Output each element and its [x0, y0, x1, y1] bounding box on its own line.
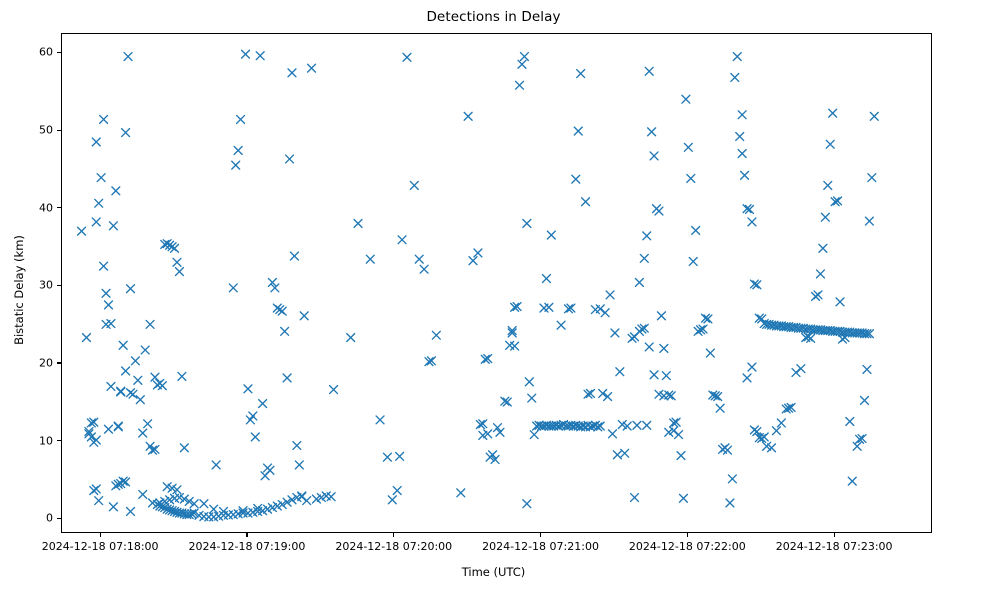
scatter-marker — [124, 53, 132, 61]
scatter-marker — [633, 421, 641, 429]
scatter-marker — [171, 244, 179, 252]
scatter-marker — [114, 423, 122, 431]
scatter-marker — [655, 207, 663, 215]
scatter-marker — [78, 227, 86, 235]
scatter-marker — [281, 327, 289, 335]
scatter-marker — [144, 420, 152, 428]
y-tick-mark — [57, 518, 61, 519]
scatter-marker — [180, 444, 188, 452]
y-tick-mark — [57, 440, 61, 441]
x-tick-label: 2024-12-18 07:21:00 — [482, 540, 599, 553]
plot-axes-frame — [61, 33, 932, 533]
scatter-marker — [127, 508, 135, 516]
scatter-marker — [772, 427, 780, 435]
scatter-marker — [100, 262, 108, 270]
scatter-marker — [210, 505, 218, 513]
scatter-marker — [178, 372, 186, 380]
scatter-marker — [244, 385, 252, 393]
scatter-marker — [122, 367, 130, 375]
scatter-marker — [249, 412, 257, 420]
scatter-marker — [863, 365, 871, 373]
scatter-marker — [107, 383, 115, 391]
scatter-marker — [200, 500, 208, 508]
scatter-marker — [824, 181, 832, 189]
scatter-marker — [601, 309, 609, 317]
scatter-marker — [657, 312, 665, 320]
scatter-marker — [640, 254, 648, 262]
scatter-marker — [616, 368, 624, 376]
scatter-marker — [303, 497, 311, 505]
y-tick-mark — [57, 285, 61, 286]
scatter-marker — [242, 50, 250, 58]
scatter-marker — [232, 161, 240, 169]
scatter-marker — [748, 218, 756, 226]
scatter-marker — [256, 52, 264, 60]
scatter-marker — [650, 152, 658, 160]
scatter-marker — [95, 497, 103, 505]
scatter-marker — [542, 275, 550, 283]
scatter-marker — [846, 417, 854, 425]
scatter-marker — [609, 430, 617, 438]
scatter-marker — [92, 218, 100, 226]
scatter-marker — [645, 67, 653, 75]
scatter-marker — [606, 291, 614, 299]
scatter-marker — [577, 70, 585, 78]
x-tick-label: 2024-12-18 07:19:00 — [189, 540, 306, 553]
scatter-series-detections — [78, 50, 879, 521]
scatter-marker — [220, 508, 228, 516]
scatter-marker — [861, 397, 869, 405]
scatter-marker — [528, 394, 536, 402]
scatter-marker — [134, 376, 142, 384]
scatter-marker — [398, 236, 406, 244]
scatter-marker — [109, 503, 117, 511]
scatter-marker — [736, 133, 744, 141]
scatter-marker — [738, 150, 746, 158]
scatter-marker — [677, 452, 685, 460]
scatter-marker — [848, 477, 856, 485]
x-tick-mark — [687, 533, 688, 537]
scatter-marker — [109, 222, 117, 230]
x-tick-mark — [246, 533, 247, 537]
scatter-marker — [836, 298, 844, 306]
scatter-marker — [643, 232, 651, 240]
scatter-marker — [266, 466, 274, 474]
scatter-marker — [819, 244, 827, 252]
scatter-marker — [139, 429, 147, 437]
scatter-marker — [631, 494, 639, 502]
scatter-marker — [520, 53, 528, 61]
scatter-marker — [613, 451, 621, 459]
scatter-marker — [604, 393, 612, 401]
x-tick-label: 2024-12-18 07:18:00 — [42, 540, 159, 553]
scatter-marker — [146, 320, 154, 328]
scatter-marker — [300, 312, 308, 320]
scatter-marker — [92, 485, 100, 493]
scatter-marker — [469, 257, 477, 265]
scatter-marker — [146, 442, 154, 450]
scatter-marker — [650, 371, 658, 379]
scatter-marker — [388, 496, 396, 504]
y-axis-label: Bistatic Delay (km) — [12, 140, 26, 440]
scatter-marker — [290, 252, 298, 260]
scatter-marker — [97, 174, 105, 182]
scatter-marker — [420, 265, 428, 273]
scatter-marker — [393, 487, 401, 495]
scatter-marker — [692, 226, 700, 234]
scatter-marker — [724, 446, 732, 454]
scatter-marker — [643, 421, 651, 429]
scatter-marker — [410, 181, 418, 189]
scatter-marker — [743, 374, 751, 382]
scatter-marker — [464, 112, 472, 120]
scatter-marker — [366, 255, 374, 263]
scatter-marker — [728, 475, 736, 483]
scatter-marker — [726, 499, 734, 507]
scatter-marker — [295, 461, 303, 469]
scatter-marker — [102, 289, 110, 297]
scatter-marker — [648, 128, 656, 136]
scatter-marker — [327, 493, 335, 501]
scatter-plot-canvas — [62, 34, 933, 534]
scatter-marker — [158, 382, 166, 390]
scatter-marker — [518, 60, 526, 68]
scatter-marker — [107, 320, 115, 328]
scatter-marker — [687, 174, 695, 182]
scatter-marker — [599, 390, 607, 398]
scatter-marker — [792, 369, 800, 377]
scatter-marker — [547, 231, 555, 239]
scatter-marker — [829, 109, 837, 117]
scatter-marker — [807, 334, 815, 342]
x-tick-mark — [100, 533, 101, 537]
x-tick-label: 2024-12-18 07:22:00 — [629, 540, 746, 553]
scatter-marker — [119, 341, 127, 349]
scatter-marker — [229, 284, 237, 292]
scatter-marker — [817, 270, 825, 278]
scatter-marker — [584, 421, 592, 429]
chart-figure: Detections in Delay 2024-12-18 07:18:002… — [0, 0, 987, 590]
y-tick-label: 50 — [19, 124, 53, 137]
scatter-marker — [582, 198, 590, 206]
scatter-marker — [474, 249, 482, 257]
scatter-marker — [105, 425, 113, 433]
scatter-marker — [432, 331, 440, 339]
scatter-marker — [212, 461, 220, 469]
scatter-marker — [131, 357, 139, 365]
scatter-marker — [684, 143, 692, 151]
scatter-marker — [731, 74, 739, 82]
scatter-marker — [175, 268, 183, 276]
scatter-marker — [283, 374, 291, 382]
scatter-marker — [574, 127, 582, 135]
scatter-marker — [141, 346, 149, 354]
y-tick-label: 0 — [19, 512, 53, 525]
scatter-marker — [689, 258, 697, 266]
scatter-marker — [596, 305, 604, 313]
scatter-marker — [753, 428, 761, 436]
scatter-marker — [853, 442, 861, 450]
scatter-marker — [376, 416, 384, 424]
scatter-marker — [516, 81, 524, 89]
scatter-marker — [870, 112, 878, 120]
scatter-marker — [308, 64, 316, 72]
x-tick-label: 2024-12-18 07:20:00 — [335, 540, 452, 553]
x-tick-label: 2024-12-18 07:23:00 — [776, 540, 893, 553]
scatter-marker — [415, 255, 423, 263]
y-tick-mark — [57, 362, 61, 363]
x-tick-mark — [834, 533, 835, 537]
x-axis-label: Time (UTC) — [0, 565, 987, 579]
scatter-marker — [611, 329, 619, 337]
scatter-marker — [545, 303, 553, 311]
scatter-marker — [251, 433, 259, 441]
scatter-marker — [511, 342, 519, 350]
scatter-marker — [777, 419, 785, 427]
scatter-marker — [675, 431, 683, 439]
scatter-marker — [530, 431, 538, 439]
scatter-marker — [868, 174, 876, 182]
scatter-marker — [127, 285, 135, 293]
scatter-marker — [865, 217, 873, 225]
scatter-marker — [679, 494, 687, 502]
y-tick-mark — [57, 207, 61, 208]
scatter-marker — [286, 155, 294, 163]
scatter-marker — [760, 433, 768, 441]
scatter-marker — [821, 213, 829, 221]
y-tick-label: 60 — [19, 46, 53, 59]
scatter-marker — [278, 307, 286, 315]
y-tick-mark — [57, 52, 61, 53]
scatter-marker — [706, 349, 714, 357]
scatter-marker — [129, 390, 137, 398]
scatter-marker — [139, 490, 147, 498]
scatter-marker — [83, 334, 91, 342]
scatter-marker — [112, 187, 120, 195]
scatter-marker — [682, 95, 690, 103]
scatter-marker — [288, 69, 296, 77]
scatter-marker — [403, 53, 411, 61]
scatter-marker — [457, 489, 465, 497]
scatter-marker — [136, 396, 144, 404]
scatter-marker — [525, 378, 533, 386]
scatter-marker — [733, 53, 741, 61]
scatter-marker — [92, 138, 100, 146]
scatter-marker — [100, 115, 108, 123]
scatter-marker — [741, 171, 749, 179]
scatter-marker — [92, 436, 100, 444]
scatter-marker — [354, 219, 362, 227]
scatter-marker — [748, 363, 756, 371]
x-tick-mark — [393, 533, 394, 537]
scatter-marker — [396, 452, 404, 460]
scatter-marker — [383, 453, 391, 461]
scatter-marker — [523, 219, 531, 227]
scatter-marker — [298, 493, 306, 501]
scatter-marker — [797, 365, 805, 373]
scatter-marker — [635, 278, 643, 286]
scatter-marker — [173, 258, 181, 266]
scatter-marker — [237, 115, 245, 123]
scatter-marker — [557, 321, 565, 329]
x-tick-mark — [540, 533, 541, 537]
scatter-marker — [293, 442, 301, 450]
scatter-marker — [105, 301, 113, 309]
scatter-marker — [117, 388, 125, 396]
scatter-marker — [234, 147, 242, 155]
y-tick-mark — [57, 130, 61, 131]
scatter-marker — [716, 404, 724, 412]
scatter-marker — [330, 386, 338, 394]
scatter-marker — [738, 111, 746, 119]
chart-title: Detections in Delay — [0, 9, 987, 25]
scatter-marker — [645, 343, 653, 351]
scatter-marker — [814, 291, 822, 299]
scatter-marker — [122, 129, 130, 137]
scatter-marker — [95, 199, 103, 207]
scatter-marker — [621, 449, 629, 457]
scatter-marker — [660, 344, 668, 352]
scatter-marker — [826, 140, 834, 148]
scatter-marker — [259, 400, 267, 408]
scatter-marker — [572, 175, 580, 183]
scatter-marker — [662, 372, 670, 380]
scatter-marker — [523, 500, 531, 508]
scatter-marker — [151, 373, 159, 381]
scatter-marker — [347, 334, 355, 342]
